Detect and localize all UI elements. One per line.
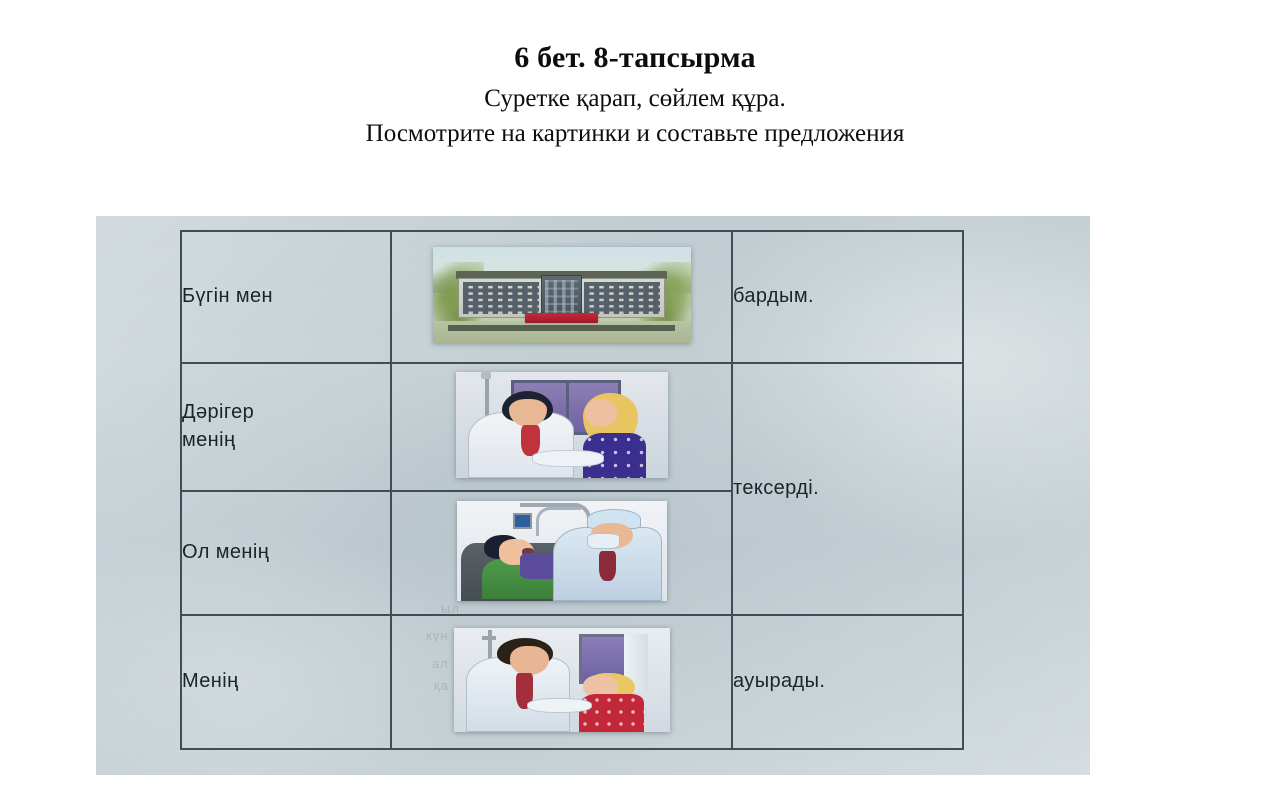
predicate-cell-1: бардым. xyxy=(732,231,963,363)
doctor-arm xyxy=(532,450,604,467)
phrase-cell-2: Дәрігер менің xyxy=(181,363,391,491)
child-dress-pattern xyxy=(579,694,644,731)
doctor-stethoscope-illustration xyxy=(456,372,668,478)
doctor-throat-exam-illustration xyxy=(454,628,670,732)
picture-cell-1 xyxy=(391,231,732,363)
face-mask-icon xyxy=(587,533,621,549)
hospital-building-illustration xyxy=(433,247,691,343)
phrase-cell-4: Менің xyxy=(181,615,391,749)
instruction-russian: Посмотрите на картинки и составьте предл… xyxy=(0,118,1270,149)
dentist-tie xyxy=(599,551,616,581)
exercise-table: Бүгін мен xyxy=(180,230,964,750)
table-row: Менің xyxy=(181,615,963,749)
worksheet-photo: ыл күн ал қа Бүгін мен xyxy=(96,216,1090,775)
predicate-cell-4: ауырады. xyxy=(732,615,963,749)
heading-block: 6 бет. 8-тапсырма Суретке қарап, сөйлем … xyxy=(0,0,1270,150)
glass-facade xyxy=(545,280,578,315)
picture-cell-4 xyxy=(391,615,732,749)
predicate-cell-2-3-merged: тексерді. xyxy=(732,363,963,615)
hospital-sign xyxy=(525,313,597,324)
monitor-icon xyxy=(513,513,532,529)
dentist-illustration xyxy=(457,501,667,601)
iv-pole-top xyxy=(481,372,491,379)
table-row: Дәрігер менің xyxy=(181,363,963,491)
table-row: Бүгін мен xyxy=(181,231,963,363)
page-title: 6 бет. 8-тапсырма xyxy=(0,40,1270,76)
picture-cell-2 xyxy=(391,363,732,491)
doctor-face xyxy=(510,646,549,675)
doctor-face xyxy=(509,399,547,427)
iv-pole-arm xyxy=(482,636,496,640)
instruction-kazakh: Суретке қарап, сөйлем құра. xyxy=(0,83,1270,114)
windows-grid xyxy=(584,282,660,314)
windows-grid xyxy=(463,282,539,314)
picture-cell-3 xyxy=(391,491,732,615)
building-base xyxy=(448,325,675,331)
phrase-cell-1: Бүгін мен xyxy=(181,231,391,363)
phrase-text-2: Дәрігер менің xyxy=(182,399,312,454)
girl-face xyxy=(585,399,617,427)
phrase-cell-3: Ол менің xyxy=(181,491,391,615)
doctor-arm xyxy=(527,698,592,713)
